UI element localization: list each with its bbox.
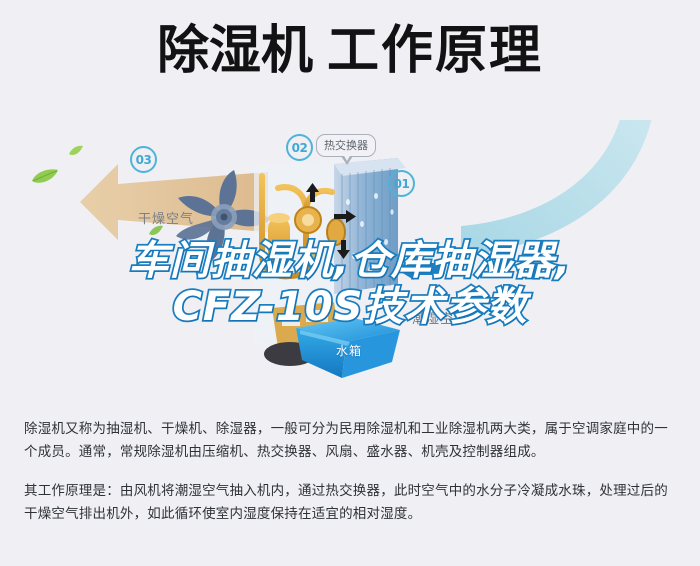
- paragraph-1: 除湿机又称为抽湿机、干燥机、除湿器，一般可分为民用除湿机和工业除湿机两大类，属于…: [24, 418, 680, 464]
- heat-exchanger-callout: 热交换器: [316, 134, 376, 157]
- badge-03: 03: [130, 146, 157, 173]
- leaf-icon: [30, 168, 60, 186]
- badge-01: 01: [388, 170, 415, 197]
- humid-air-arrow: [395, 120, 655, 260]
- water-tank-label: 水箱: [336, 342, 362, 359]
- dehumidifier-diagram: 干燥空气 03: [0, 120, 700, 410]
- leaf-icon: [68, 145, 84, 157]
- humid-air-arrowhead: [396, 258, 444, 280]
- page-root: 除湿机工作原理: [0, 0, 700, 566]
- title-part-1: 除湿机: [157, 21, 313, 81]
- title-part-2: 工作原理: [327, 21, 543, 81]
- body-copy: 除湿机又称为抽湿机、干燥机、除湿器，一般可分为民用除湿机和工业除湿机两大类，属于…: [24, 418, 680, 542]
- humid-air-label: 潮湿空气: [412, 308, 468, 327]
- page-title: 除湿机工作原理: [0, 24, 700, 79]
- badge-02: 02: [286, 134, 313, 161]
- paragraph-2: 其工作原理是：由风机将潮湿空气抽入机内，通过热交换器，此时空气中的水分子冷凝成水…: [24, 480, 680, 526]
